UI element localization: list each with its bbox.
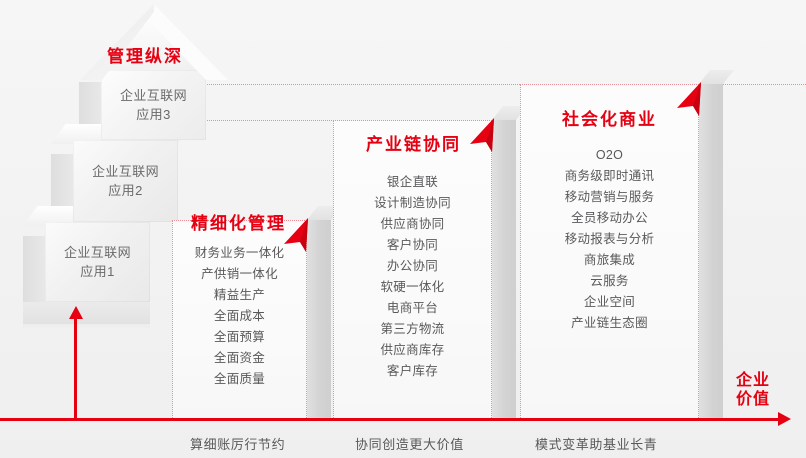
panel-1-items: 财务业务一体化 产供销一体化 精益生产 全面成本 全面预算 全面资金 全面质量: [172, 243, 307, 390]
panel-1-item: 产供销一体化: [172, 264, 307, 285]
value-axis-arrowhead-icon: [69, 306, 83, 319]
panel-2-item: 第三方物流: [333, 319, 492, 340]
panel-3-item: 产业链生态圈: [520, 313, 699, 334]
step-block-3-label-line1: 企业互联网: [120, 86, 187, 105]
panel-2-item: 客户协同: [333, 235, 492, 256]
panel-3-slab-side: [699, 84, 723, 420]
panel-3-items: O2O 商务级即时通讯 移动营销与服务 全员移动办公 移动报表与分析 商旅集成 …: [520, 145, 699, 334]
panel-2-slab-side: [492, 120, 516, 420]
panel-2-items: 银企直联 设计制造协同 供应商协同 客户协同 办公协同 软硬一体化 电商平台 第…: [333, 172, 492, 382]
axis-caption-line1: 企业: [736, 371, 770, 390]
step-block-2: 企业互联网 应用2: [73, 140, 178, 222]
step-block-1-label-line1: 企业互联网: [64, 243, 131, 262]
panel-2-item: 软硬一体化: [333, 277, 492, 298]
panel-1-item: 全面预算: [172, 327, 307, 348]
axis-caption-line2: 价值: [736, 390, 770, 409]
panel-2-item: 供应商协同: [333, 214, 492, 235]
panel-3-title: 社会化商业: [562, 105, 657, 130]
bottom-caption-3: 模式变革助基业长青: [535, 434, 657, 453]
step-block-1-front-face: 企业互联网 应用1: [45, 222, 150, 302]
panel-2-item: 客户库存: [333, 361, 492, 382]
step-block-3-label-line2: 应用3: [136, 105, 170, 124]
infographic-canvas: 企业互联网 应用1 企业互联网 应用2 企业互联网 应用3: [0, 0, 806, 458]
step-block-1: 企业互联网 应用1: [45, 222, 150, 302]
panel-1-item: 全面成本: [172, 306, 307, 327]
panel-1-corner-flag-icon: [270, 218, 314, 256]
bottom-caption-2: 协同创造更大价值: [355, 434, 464, 453]
value-axis-vertical: [74, 318, 77, 420]
axis-caption: 企业 价值: [736, 371, 770, 409]
step-block-3: 企业互联网 应用3: [101, 70, 206, 140]
bottom-caption-1: 算细账厉行节约: [190, 434, 285, 453]
panel-1-item: 精益生产: [172, 285, 307, 306]
panel-2-item: 设计制造协同: [333, 193, 492, 214]
step-block-2-front-face: 企业互联网 应用2: [73, 140, 178, 222]
panel-2-title: 产业链协同: [366, 130, 461, 155]
panel-1-item: 全面质量: [172, 369, 307, 390]
top-arrow-title: 管理纵深: [107, 42, 183, 67]
step-block-1-label-line2: 应用1: [80, 262, 114, 281]
panel-2-corner-flag-icon: [456, 118, 500, 156]
step-block-2-label-line1: 企业互联网: [92, 162, 159, 181]
panel-2-item: 办公协同: [333, 256, 492, 277]
panel-3-item: 商旅集成: [520, 250, 699, 271]
panel-2-item: 供应商库存: [333, 340, 492, 361]
panel-3-item: 商务级即时通讯: [520, 166, 699, 187]
panel-3-item: O2O: [520, 145, 699, 166]
value-axis-horizontal: [0, 418, 780, 421]
panel-3-item: 移动报表与分析: [520, 229, 699, 250]
panel-3-item: 全员移动办公: [520, 208, 699, 229]
panel-3-item: 云服务: [520, 271, 699, 292]
step-block-1-base: [23, 302, 150, 324]
step-block-2-label-line2: 应用2: [108, 181, 142, 200]
panel-2-item: 电商平台: [333, 298, 492, 319]
step-block-3-front-face: 企业互联网 应用3: [101, 70, 206, 140]
horizontal-axis-arrowhead-icon: [778, 412, 791, 426]
panel-3-item: 企业空间: [520, 292, 699, 313]
panel-1-item: 全面资金: [172, 348, 307, 369]
panel-3-corner-flag-icon: [663, 82, 707, 120]
panel-3-item: 移动营销与服务: [520, 187, 699, 208]
panel-2-item: 银企直联: [333, 172, 492, 193]
